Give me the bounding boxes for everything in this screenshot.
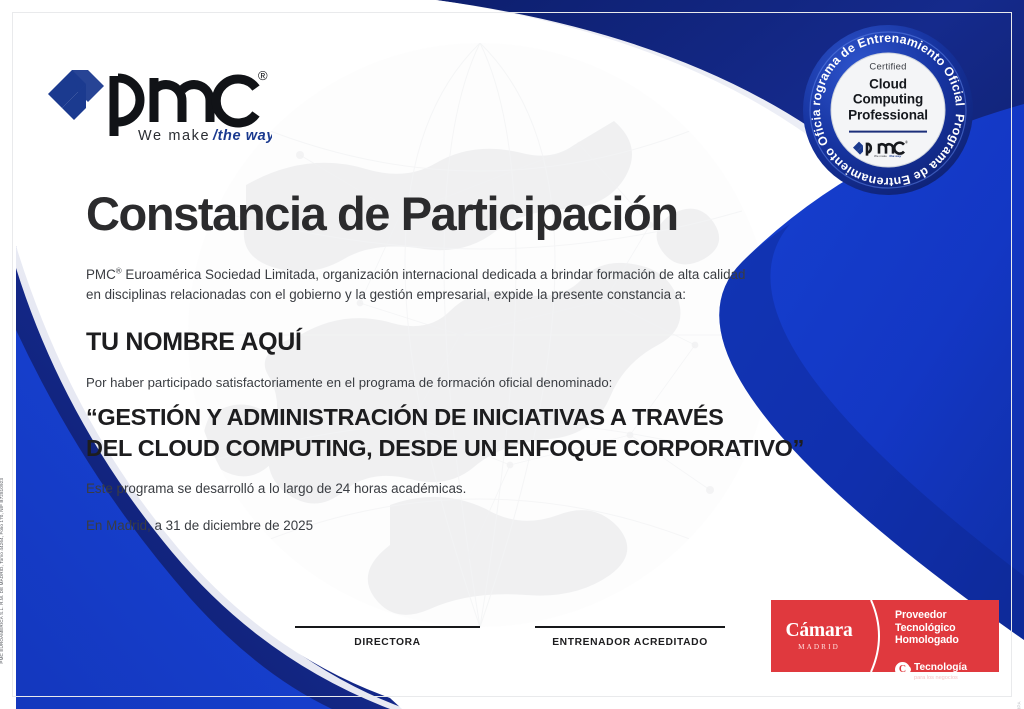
camara-tech-sub: para los negocios — [914, 676, 967, 682]
intro-paragraph: PMC® Euroamérica Sociedad Limitada, orga… — [86, 265, 746, 304]
course-title: “GESTIÓN Y ADMINISTRACIÓN DE INICIATIVAS… — [86, 402, 966, 463]
camara-tech-text: Tecnología para los negocios — [914, 657, 967, 682]
camara-headline2: Homologado — [895, 634, 991, 647]
course-title-line2: DEL CLOUD COMPUTING, DESDE UN ENFOQUE CO… — [86, 433, 966, 464]
camara-c-icon: C — [895, 662, 910, 677]
svg-text:®: ® — [905, 139, 908, 144]
certification-seal: Programa de Entrenamiento Oficial - - Pr… — [800, 22, 976, 198]
seal-credential-line2: Computing — [832, 92, 944, 108]
seal-credential: Cloud Computing Professional — [832, 76, 944, 124]
signature-label: DIRECTORA — [295, 637, 480, 648]
signature-area: DIRECTORA ENTRENADOR ACREDITADO — [210, 626, 850, 676]
camara-madrid-badge: Cámara MADRID Proveedor Tecnológico Homo… — [771, 600, 999, 672]
signature-line — [295, 626, 480, 628]
svg-text:/the way: /the way — [888, 154, 901, 158]
course-hours: Este programa se desarrolló a lo largo d… — [86, 481, 466, 496]
document-code: CC-PMPA — [1017, 701, 1022, 709]
camara-logo: Cámara MADRID — [771, 600, 867, 672]
seal-divider — [849, 131, 927, 133]
place-and-date: En Madrid, a 31 de diciembre de 2025 — [86, 518, 313, 533]
seal-pmc-logo: ® We make /the way — [852, 137, 924, 157]
signature-block-entrenador: ENTRENADOR ACREDITADO — [535, 626, 725, 648]
camara-name: Cámara — [785, 621, 852, 641]
camara-city: MADRID — [798, 643, 840, 651]
seal-certified-label: Certified — [832, 63, 944, 73]
seal-credential-line1: Cloud — [832, 76, 944, 92]
participation-line: Por haber participado satisfactoriamente… — [86, 374, 612, 392]
page-title: Constancia de Participación — [86, 190, 678, 237]
course-title-line1: “GESTIÓN Y ADMINISTRACIÓN DE INICIATIVAS… — [86, 402, 966, 433]
seal-credential-line3: Professional — [832, 108, 944, 124]
certificate-page: ® We make /the way Progr — [0, 0, 1024, 709]
intro-body: Euroamérica Sociedad Limitada, organizac… — [86, 267, 745, 302]
camara-divider — [867, 600, 893, 672]
recipient-name: TU NOMBRE AQUÍ — [86, 330, 302, 355]
svg-text:We make: We make — [874, 154, 887, 158]
legal-registry-text: PMC EUROAMÉRICA S.L. R.M. DE MADRID, Tom… — [0, 478, 4, 664]
signature-block-directora: DIRECTORA — [295, 626, 480, 648]
camara-tech-row: C Tecnología para los negocios — [895, 657, 991, 682]
camara-headline: Proveedor Tecnológico — [895, 609, 991, 634]
camara-text-block: Proveedor Tecnológico Homologado C Tecno… — [893, 600, 999, 672]
signature-label: ENTRENADOR ACREDITADO — [535, 637, 725, 648]
signature-line — [535, 626, 725, 628]
intro-brand: PMC — [86, 267, 116, 282]
camara-tech-label: Tecnología — [914, 662, 967, 673]
